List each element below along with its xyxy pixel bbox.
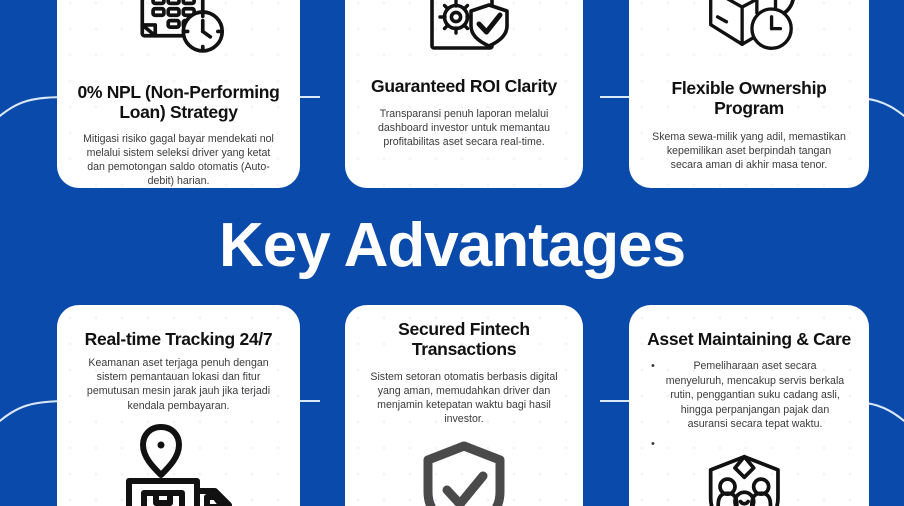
clipboard-gear-shield-icon	[414, 0, 514, 70]
page-title: Key Advantages	[0, 215, 904, 277]
advantage-card-flexible-ownership[interactable]: Flexible Ownership Program Skema sewa-mi…	[629, 0, 869, 188]
calendar-clock-icon	[125, 0, 233, 76]
box-return-clock-icon	[695, 0, 803, 72]
card-body: Mitigasi risiko gagal bayar mendekati no…	[73, 132, 284, 188]
card-body: Sistem setoran otomatis berbasis digital…	[359, 370, 569, 426]
card-title: Real-time Tracking 24/7	[85, 329, 273, 349]
advantage-card-asset-maintaining[interactable]: Asset Maintaining & Care Pemeliharaan as…	[629, 305, 869, 506]
card-bullet-list: Pemeliharaan aset secara menyeluruh, men…	[643, 359, 855, 455]
card-title: Secured Fintech Transactions	[359, 319, 569, 360]
advantage-card-roi-clarity[interactable]: Guaranteed ROI Clarity Transparansi penu…	[345, 0, 583, 188]
advantage-card-secured-fintech[interactable]: Secured Fintech Transactions Sistem seto…	[345, 305, 583, 506]
shield-family-umbrella-icon	[697, 453, 801, 506]
slide-canvas: 0% NPL (Non-Performing Loan) Strategy Mi…	[0, 0, 904, 506]
advantage-card-npl-strategy[interactable]: 0% NPL (Non-Performing Loan) Strategy Mi…	[57, 0, 300, 188]
card-body: Skema sewa-milik yang adil, memastikan k…	[645, 130, 853, 172]
card-body: Transparansi penuh laporan melalui dashb…	[361, 107, 567, 149]
truck-location-pin-icon	[119, 421, 239, 506]
shield-check-icon	[420, 440, 508, 506]
advantage-card-realtime-tracking[interactable]: Real-time Tracking 24/7 Keamanan aset te…	[57, 305, 300, 506]
card-title: Asset Maintaining & Care	[647, 329, 851, 349]
card-body: Keamanan aset terjaga penuh dengan siste…	[71, 356, 286, 412]
card-title: 0% NPL (Non-Performing Loan) Strategy	[73, 82, 284, 123]
card-title: Flexible Ownership Program	[645, 78, 853, 119]
list-item: Pemeliharaan aset secara menyeluruh, men…	[663, 359, 847, 431]
list-item	[663, 437, 847, 449]
card-title: Guaranteed ROI Clarity	[371, 76, 557, 96]
